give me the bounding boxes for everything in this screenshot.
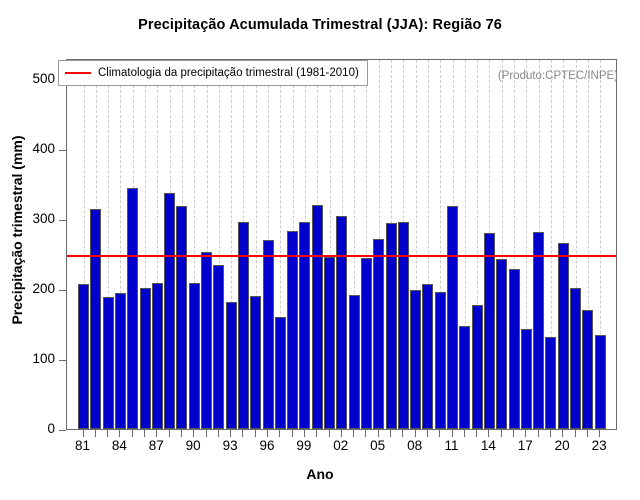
- bar-17: [521, 329, 532, 429]
- bar-13: [472, 305, 483, 429]
- bar-95: [250, 296, 261, 429]
- y-tick-label: 100: [11, 351, 55, 366]
- x-tick: [464, 430, 465, 437]
- y-tick-label: 500: [11, 71, 55, 86]
- bar-91: [201, 252, 212, 429]
- bar-07: [398, 222, 409, 429]
- bar-08: [410, 290, 421, 429]
- x-tick: [341, 430, 342, 437]
- y-tick: [59, 150, 66, 151]
- x-tick: [390, 430, 391, 437]
- bar-96: [263, 240, 274, 429]
- climatology-line-icon: [65, 72, 91, 74]
- bar-11: [447, 206, 458, 429]
- bar-23: [595, 335, 606, 430]
- bar-19: [545, 337, 556, 429]
- x-tick-label: 23: [584, 438, 614, 453]
- y-tick-label: 400: [11, 141, 55, 156]
- x-tick-label: 02: [326, 438, 356, 453]
- x-tick: [267, 430, 268, 437]
- bar-90: [189, 283, 200, 429]
- bar-05: [373, 239, 384, 429]
- x-tick: [242, 430, 243, 437]
- chart-container: Precipitação Acumulada Trimestral (JJA):…: [0, 0, 640, 500]
- x-tick: [575, 430, 576, 437]
- bar-99: [299, 222, 310, 429]
- x-tick-label: 90: [178, 438, 208, 453]
- x-tick: [415, 430, 416, 437]
- x-tick-label: 87: [141, 438, 171, 453]
- bar-83: [103, 297, 114, 429]
- x-tick: [476, 430, 477, 437]
- y-tick: [59, 360, 66, 361]
- x-tick: [304, 430, 305, 437]
- x-tick: [279, 430, 280, 437]
- y-axis-title: Precipitação trimestral (mm): [9, 80, 25, 380]
- x-tick: [562, 430, 563, 437]
- x-tick: [427, 430, 428, 437]
- x-tick-label: 81: [68, 438, 98, 453]
- legend-label-climatology: Climatologia da precipitação trimestral …: [98, 67, 359, 79]
- x-tick: [587, 430, 588, 437]
- x-tick: [513, 430, 514, 437]
- y-tick: [59, 430, 66, 431]
- bar-89: [176, 206, 187, 429]
- bar-18: [533, 232, 544, 429]
- x-tick: [452, 430, 453, 437]
- bar-14: [484, 233, 495, 429]
- x-tick: [107, 430, 108, 437]
- x-tick: [316, 430, 317, 437]
- x-tick: [525, 430, 526, 437]
- y-tick: [59, 220, 66, 221]
- bar-15: [496, 259, 507, 429]
- x-tick: [230, 430, 231, 437]
- x-tick: [132, 430, 133, 437]
- bar-84: [115, 293, 126, 430]
- x-tick: [488, 430, 489, 437]
- bar-81: [78, 284, 89, 429]
- bar-03: [349, 295, 360, 429]
- y-tick: [59, 290, 66, 291]
- bar-93: [226, 302, 237, 429]
- page-title: Precipitação Acumulada Trimestral (JJA):…: [0, 17, 640, 33]
- bar-00: [312, 205, 323, 429]
- bar-12: [459, 326, 470, 429]
- x-tick: [119, 430, 120, 437]
- x-tick: [181, 430, 182, 437]
- x-tick-label: 96: [252, 438, 282, 453]
- plot-inner: [67, 60, 616, 429]
- bar-98: [287, 231, 298, 429]
- x-tick: [292, 430, 293, 437]
- x-tick: [378, 430, 379, 437]
- bar-01: [324, 257, 335, 429]
- bar-10: [435, 292, 446, 429]
- x-tick: [218, 430, 219, 437]
- x-tick: [402, 430, 403, 437]
- x-tick: [156, 430, 157, 437]
- x-axis-title: Ano: [0, 466, 640, 482]
- x-tick: [439, 430, 440, 437]
- x-tick-label: 20: [547, 438, 577, 453]
- bar-16: [509, 269, 520, 429]
- bar-02: [336, 216, 347, 429]
- y-tick-label: 200: [11, 281, 55, 296]
- x-tick: [501, 430, 502, 437]
- bar-86: [140, 288, 151, 429]
- x-tick: [206, 430, 207, 437]
- x-tick: [169, 430, 170, 437]
- plot-area: [66, 59, 617, 430]
- x-tick: [329, 430, 330, 437]
- bar-22: [582, 310, 593, 429]
- bar-04: [361, 258, 372, 429]
- x-tick-label: 17: [510, 438, 540, 453]
- x-tick: [144, 430, 145, 437]
- x-tick: [95, 430, 96, 437]
- bar-88: [164, 193, 175, 429]
- x-tick: [538, 430, 539, 437]
- bar-82: [90, 209, 101, 429]
- x-tick: [255, 430, 256, 437]
- x-tick: [550, 430, 551, 437]
- x-tick-label: 05: [363, 438, 393, 453]
- x-tick: [193, 430, 194, 437]
- x-tick: [83, 430, 84, 437]
- climatology-line: [67, 255, 616, 257]
- bar-21: [570, 288, 581, 429]
- bar-85: [127, 188, 138, 430]
- bar-94: [238, 222, 249, 429]
- y-tick-label: 0: [11, 421, 55, 436]
- bar-09: [422, 284, 433, 429]
- x-tick-label: 84: [104, 438, 134, 453]
- bar-92: [213, 265, 224, 430]
- x-tick-label: 99: [289, 438, 319, 453]
- bar-87: [152, 283, 163, 429]
- x-tick-label: 93: [215, 438, 245, 453]
- source-annotation: (Produto:CPTEC/INPE): [498, 70, 618, 82]
- x-tick-label: 11: [437, 438, 467, 453]
- y-tick-label: 300: [11, 211, 55, 226]
- x-tick-label: 08: [400, 438, 430, 453]
- bar-97: [275, 317, 286, 429]
- legend: Climatologia da precipitação trimestral …: [58, 60, 368, 86]
- x-tick-label: 14: [473, 438, 503, 453]
- bar-20: [558, 243, 569, 429]
- x-tick: [353, 430, 354, 437]
- x-tick: [599, 430, 600, 437]
- x-tick: [365, 430, 366, 437]
